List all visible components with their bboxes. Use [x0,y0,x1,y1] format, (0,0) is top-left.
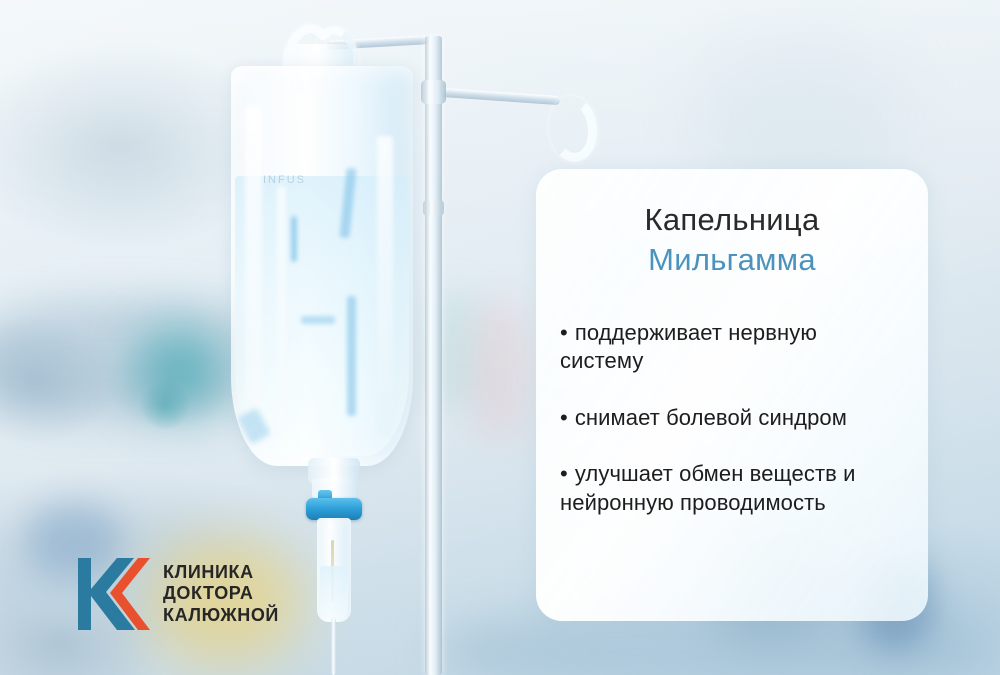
iv-bag-printed-label: INFUS [263,174,306,186]
benefit-item-1: •поддерживает нервную систему [560,319,904,376]
iv-tubing [331,618,336,675]
bullet-dot-icon: • [560,461,568,486]
iv-stand-joint-top [421,80,446,104]
benefit-text-1: поддерживает нервную систему [560,320,817,374]
clinic-logo-line-3: КАЛЮЖНОЙ [163,605,279,627]
iv-drip-chamber-fluid [320,566,348,620]
iv-stand-pole [425,36,442,675]
benefit-item-3: •улучшает обмен веществ и нейронную пров… [560,460,904,517]
kk-monogram-icon [78,556,150,632]
clinic-logo-line-2: ДОКТОРА [163,583,279,605]
iv-bag-fluid [235,176,409,456]
info-card: Капельница Мильгамма •поддерживает нервн… [536,169,928,621]
iv-stand-joint-lower [423,200,444,216]
bullet-dot-icon: • [560,405,568,430]
clinic-logo-text: КЛИНИКА ДОКТОРА КАЛЮЖНОЙ [163,562,279,627]
iv-drip-chamber-cap [306,498,362,520]
card-title: Капельница Мильгамма [560,201,904,279]
bullet-dot-icon: • [560,320,568,345]
card-title-primary: Капельница [645,202,820,237]
advertisement-banner: INFUS Капельница Мильгамма •поддерживает… [0,0,1000,675]
iv-stand-right-arm [440,88,560,105]
benefit-text-2: снимает болевой синдром [575,405,847,430]
clinic-logo-line-1: КЛИНИКА [163,562,279,584]
iv-fluid-bag: INFUS [231,66,413,466]
clinic-logo: КЛИНИКА ДОКТОРА КАЛЮЖНОЙ [78,556,279,632]
card-title-brand: Мильгамма [560,241,904,279]
benefit-text-3: улучшает обмен веществ и нейронную прово… [560,461,856,515]
benefit-item-2: •снимает болевой синдром [560,404,904,433]
benefits-list: •поддерживает нервную систему •снимает б… [560,319,904,518]
